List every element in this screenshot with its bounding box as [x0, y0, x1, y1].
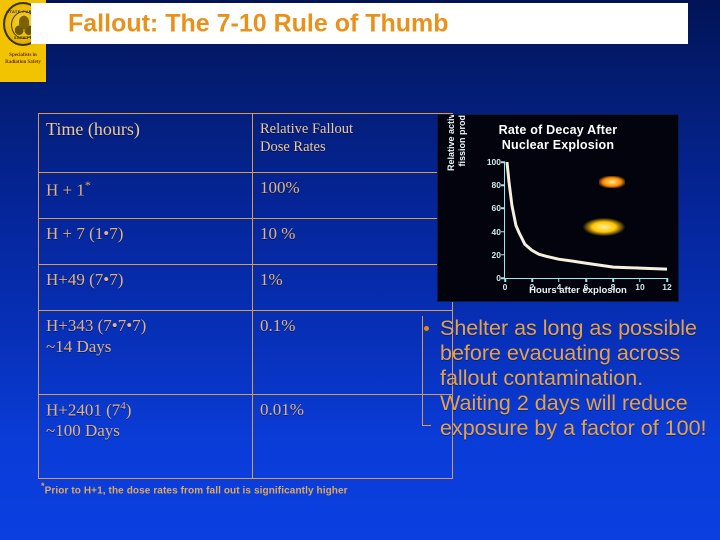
table-cell-dose: 100%: [253, 173, 453, 219]
table-cell-time: H+49 (7•7): [39, 265, 253, 311]
table-cell-time: H + 1*: [39, 173, 253, 219]
fallout-dose-rate-table: Time (hours) Relative Fallout Dose Rates…: [38, 113, 453, 479]
table-footnote: *Prior to H+1, the dose rates from fall …: [41, 481, 441, 496]
table-edge-rule: [422, 316, 423, 426]
logo-caption-line2: Radiation Safety: [0, 59, 46, 66]
decay-curve-line: [505, 162, 667, 278]
title-bar: Fallout: The 7-10 Rule of Thumb: [31, 3, 688, 44]
table-cell-dose: 10 %: [253, 219, 453, 265]
table-header-row: Time (hours) Relative Fallout Dose Rates: [39, 114, 453, 173]
ytick-label: 100: [487, 157, 501, 167]
table-cell-time-main: H+343 (7•7•7): [46, 316, 146, 335]
bullet-point-icon: [424, 326, 429, 331]
logo-caption: Specialists in Radiation Safety: [0, 52, 46, 66]
ytick-label: 0: [496, 273, 501, 283]
table-cell-time-main: H+2401 (7: [46, 401, 120, 420]
footnote-marker: *: [85, 178, 91, 192]
table-cell-time: H + 7 (1•7): [39, 219, 253, 265]
logo-caption-line1: Specialists in: [0, 52, 46, 59]
slide-canvas: STATE PUBLIC SAFETY Specialists in Radia…: [0, 0, 720, 540]
chart-x-axis-label: Hours after explosion: [478, 285, 678, 296]
table-header-time: Time (hours): [39, 114, 253, 173]
ytick-label: 80: [492, 180, 501, 190]
ytick-label: 20: [492, 250, 501, 260]
ytick-mark: [501, 254, 505, 256]
ytick-mark: [501, 161, 505, 163]
ytick-label: 60: [492, 203, 501, 213]
footnote-text: Prior to H+1, the dose rates from fall o…: [45, 485, 348, 496]
chart-y-axis-label-line1: Relative activity of: [446, 114, 457, 190]
decay-rate-chart: Rate of Decay After Nuclear Explosion 0 …: [437, 114, 679, 302]
ytick-mark: [501, 184, 505, 186]
table-row: H+49 (7•7) 1%: [39, 265, 453, 311]
table-row: H + 1* 100%: [39, 173, 453, 219]
table-cell-time-sub: ~100 Days: [46, 421, 120, 440]
table-cell-dose: 1%: [253, 265, 453, 311]
ytick-mark: [501, 208, 505, 210]
table-cell-time: H+2401 (74) ~100 Days: [39, 395, 253, 479]
table-cell-time-close: ): [126, 401, 132, 420]
table-header-dose: Relative Fallout Dose Rates: [253, 114, 453, 173]
chart-plot-area: 0 20 40 60 80 100 0 2 4 6 8 10 12: [504, 162, 667, 279]
chart-y-axis-label: Relative activity of fission products: [446, 114, 476, 190]
table-cell-time: H+343 (7•7•7) ~14 Days: [39, 311, 253, 395]
table-row: H + 7 (1•7) 10 %: [39, 219, 453, 265]
ytick-label: 40: [492, 227, 501, 237]
ytick-mark: [501, 231, 505, 233]
page-title: Fallout: The 7-10 Rule of Thumb: [68, 9, 449, 38]
table-row: H+343 (7•7•7) ~14 Days 0.1%: [39, 311, 453, 395]
table-header-dose-line2: Dose Rates: [260, 139, 326, 155]
chart-y-axis-label-line2: fission products: [457, 114, 468, 190]
bullet-list: Shelter as long as possible before evacu…: [424, 316, 716, 441]
bullet-item-text: Shelter as long as possible before evacu…: [440, 316, 716, 441]
table-row: H+2401 (74) ~100 Days 0.01%: [39, 395, 453, 479]
table-cell-time-sub: ~14 Days: [46, 337, 111, 356]
table-cell-time-main: H + 1: [46, 181, 85, 200]
table-header-dose-line1: Relative Fallout: [260, 121, 353, 137]
